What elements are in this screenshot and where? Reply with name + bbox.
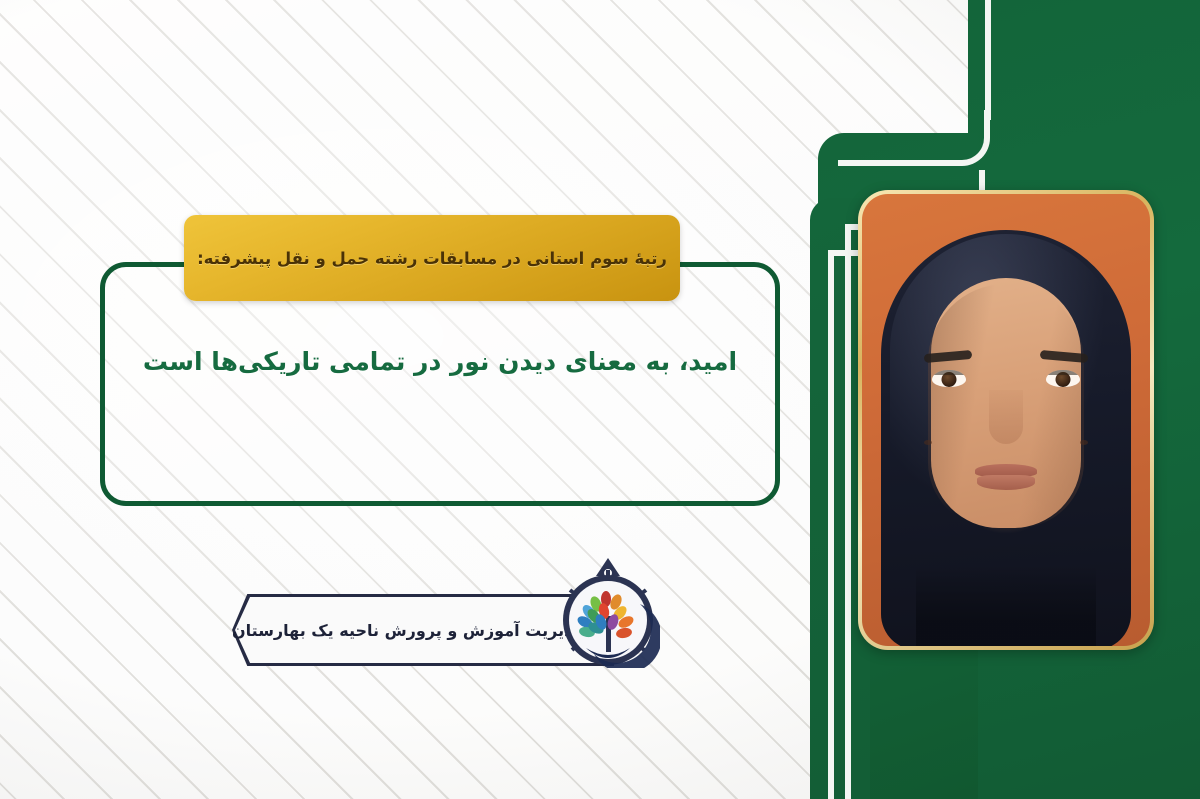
poster-canvas: رتبهٔ سوم استانی در مسابقات رشته حمل و ن… [0,0,1200,799]
lower-lip [977,475,1035,490]
nose-shape [989,390,1023,444]
education-ministry-tree-emblem-icon [556,556,660,668]
award-banner: رتبهٔ سوم استانی در مسابقات رشته حمل و ن… [184,215,680,301]
student-portrait-photo [862,194,1150,646]
nostril-left [924,440,932,445]
neck-shadow [916,566,1096,646]
chin-highlight [964,494,1048,534]
panel-outline-top-vertical [985,0,991,120]
panel-outline-left-vertical-inner [845,224,851,799]
eyelid-right [1046,370,1080,375]
nostril-right [1080,440,1088,445]
student-portrait-frame [858,190,1154,650]
eyelid-left [932,370,966,375]
eye-right [1046,370,1080,387]
quote-text: امید، به معنای دیدن نور در تمامی تاریکی‌… [104,344,776,379]
award-banner-text: رتبهٔ سوم استانی در مسابقات رشته حمل و ن… [197,249,667,268]
panel-outline-left-vertical-outer [828,252,834,799]
panel-outline-step-upper [838,110,990,166]
eye-left [932,370,966,387]
